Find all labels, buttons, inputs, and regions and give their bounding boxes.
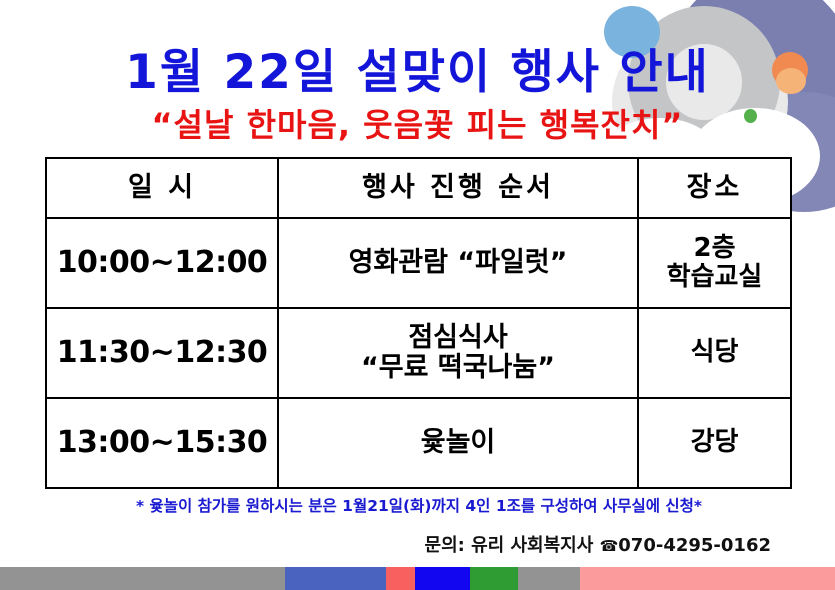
segment-pink bbox=[580, 567, 835, 590]
contact-phone: 070-4295-0162 bbox=[618, 535, 771, 556]
telephone-icon: ☎ bbox=[600, 537, 619, 555]
segment-gray-left bbox=[0, 567, 285, 590]
cell-order-line1: 영화관람 “파일럿” bbox=[349, 247, 568, 278]
column-header-time: 일 시 bbox=[46, 158, 278, 218]
schedule-table: 일 시 행사 진행 순서 장소 10:00~12:00 영화관람 “파일럿” 2… bbox=[45, 157, 792, 489]
segment-periwinkle bbox=[285, 567, 386, 590]
column-header-order: 행사 진행 순서 bbox=[278, 158, 638, 218]
cell-order: 점심식사 “무료 떡국나눔” bbox=[278, 308, 638, 398]
contact-line: 문의: 유리 사회복지사 ☎070-4295-0162 bbox=[45, 531, 793, 557]
cell-order-line1: 점심식사 bbox=[408, 322, 507, 353]
page-subtitle: “설날 한마음, 웃음꽃 피는 행복잔치” bbox=[0, 100, 835, 146]
cell-time: 10:00~12:00 bbox=[46, 218, 278, 308]
cell-place: 강당 bbox=[638, 398, 791, 488]
cell-place-line1: 2층 bbox=[693, 233, 735, 263]
cell-time: 13:00~15:30 bbox=[46, 398, 278, 488]
segment-blue bbox=[415, 567, 470, 590]
table-row: 13:00~15:30 윷놀이 강당 bbox=[46, 398, 791, 488]
table-row: 10:00~12:00 영화관람 “파일럿” 2층 학습교실 bbox=[46, 218, 791, 308]
event-poster: 1월 22일 설맞이 행사 안내 “설날 한마음, 웃음꽃 피는 행복잔치” 일… bbox=[0, 0, 835, 590]
column-header-place: 장소 bbox=[638, 158, 791, 218]
table-row: 11:30~12:30 점심식사 “무료 떡국나눔” 식당 bbox=[46, 308, 791, 398]
contact-label: 문의: 유리 사회복지사 bbox=[425, 535, 594, 556]
cell-order-line2: “무료 떡국나눔” bbox=[361, 352, 555, 383]
cell-order: 영화관람 “파일럿” bbox=[278, 218, 638, 308]
cell-place-line2: 학습교실 bbox=[667, 262, 763, 292]
table-header-row: 일 시 행사 진행 순서 장소 bbox=[46, 158, 791, 218]
cell-time: 11:30~12:30 bbox=[46, 308, 278, 398]
bottom-color-bar bbox=[0, 567, 835, 590]
segment-gray-right bbox=[518, 567, 580, 590]
segment-green bbox=[470, 567, 518, 590]
cell-place: 식당 bbox=[638, 308, 791, 398]
segment-salmon bbox=[386, 567, 415, 590]
participation-note: * 윷놀이 참가를 원하시는 분은 1월21일(화)까지 4인 1조를 구성하여… bbox=[45, 494, 793, 516]
cell-order: 윷놀이 bbox=[278, 398, 638, 488]
page-title: 1월 22일 설맞이 행사 안내 bbox=[0, 33, 835, 102]
cell-place: 2층 학습교실 bbox=[638, 218, 791, 308]
